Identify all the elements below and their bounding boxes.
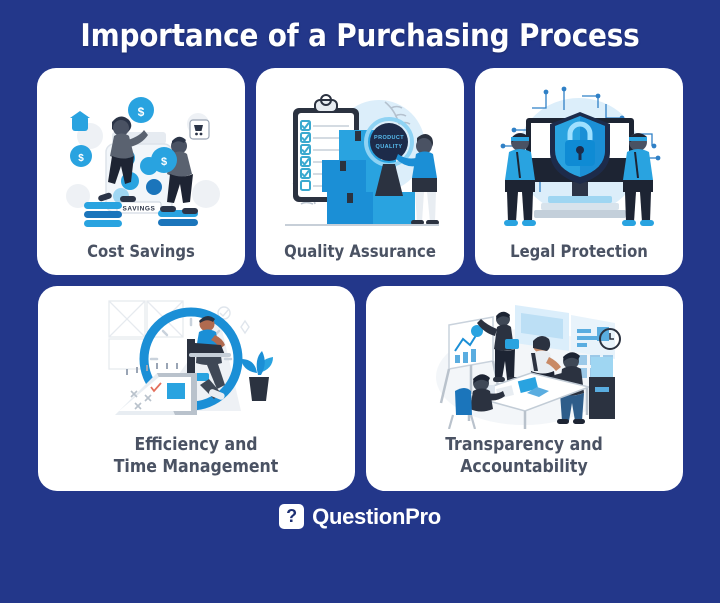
svg-text:$: $ xyxy=(138,105,145,119)
card-label-quality-assurance: Quality Assurance xyxy=(280,240,440,267)
cards-grid: $ $ xyxy=(30,68,690,491)
card-label-cost-savings: Cost Savings xyxy=(83,240,199,267)
svg-text:$: $ xyxy=(161,156,167,168)
svg-text:QUALITY: QUALITY xyxy=(376,144,403,150)
page-title: Importance of a Purchasing Process xyxy=(80,18,640,56)
card-label-legal-protection: Legal Protection xyxy=(506,240,652,267)
infographic-root: Importance of a Purchasing Process $ xyxy=(0,0,720,603)
logo-question-mark-glyph: ? xyxy=(286,507,297,525)
quality-assurance-illustration: PRODUCT QUALITY xyxy=(264,78,456,240)
questionpro-logo-icon: ? xyxy=(279,504,304,529)
svg-text:SAVINGS: SAVINGS xyxy=(123,206,156,213)
card-cost-savings[interactable]: $ $ xyxy=(37,68,245,275)
transparency-accountability-illustration xyxy=(374,296,675,433)
card-transparency-accountability[interactable]: Transparency and Accountability xyxy=(366,286,683,491)
svg-text:$: $ xyxy=(78,153,84,164)
brand-name: QuestionPro xyxy=(312,504,441,530)
card-label-efficiency-time-management: Efficiency and Time Management xyxy=(110,433,283,483)
brand-footer: ? QuestionPro xyxy=(279,504,441,530)
cost-savings-illustration: $ $ xyxy=(45,78,237,240)
card-quality-assurance[interactable]: PRODUCT QUALITY xyxy=(256,68,464,275)
svg-text:PRODUCT: PRODUCT xyxy=(374,135,404,141)
card-legal-protection[interactable]: Legal Protection xyxy=(475,68,683,275)
card-label-transparency-accountability: Transparency and Accountability xyxy=(441,433,607,483)
card-efficiency-time-management[interactable]: Efficiency and Time Management xyxy=(38,286,355,491)
efficiency-time-management-illustration xyxy=(46,296,347,433)
cards-row-top: $ $ xyxy=(30,68,690,275)
cards-row-bottom: Efficiency and Time Management xyxy=(30,286,690,491)
legal-protection-illustration xyxy=(483,78,675,240)
